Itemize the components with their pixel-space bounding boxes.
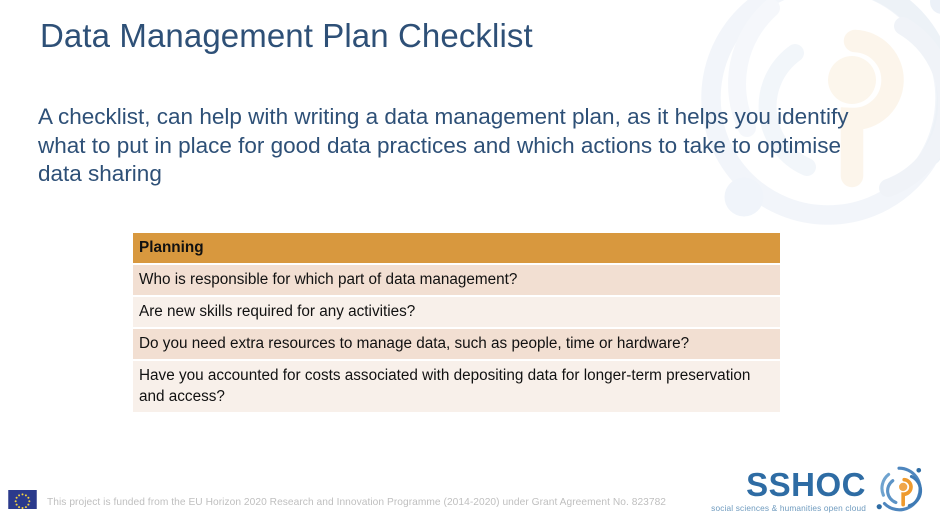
checklist-item: Have you accounted for costs associated … [133, 360, 780, 413]
checklist-item: Do you need extra resources to manage da… [133, 328, 780, 360]
funding-note: This project is funded from the EU Horiz… [47, 497, 666, 508]
table-row: Who is responsible for which part of dat… [133, 264, 780, 296]
slide-canvas: Data Management Plan Checklist A checkli… [0, 0, 940, 523]
table-row: Are new skills required for any activiti… [133, 296, 780, 328]
checklist-section-header: Planning [133, 233, 780, 264]
page-title: Data Management Plan Checklist [40, 17, 533, 55]
table-header-row: Planning [133, 233, 780, 264]
eu-flag-icon [8, 490, 37, 509]
sshoc-circular-mark-icon [866, 463, 932, 515]
sshoc-tagline: social sciences & humanities open cloud [711, 503, 866, 513]
checklist-item: Are new skills required for any activiti… [133, 296, 780, 328]
table-row: Have you accounted for costs associated … [133, 360, 780, 413]
checklist-table: Planning Who is responsible for which pa… [133, 233, 780, 414]
slide-footer: This project is funded from the EU Horiz… [0, 463, 940, 523]
slide-subtitle: A checklist, can help with writing a dat… [38, 103, 850, 189]
checklist-item: Who is responsible for which part of dat… [133, 264, 780, 296]
table-row: Do you need extra resources to manage da… [133, 328, 780, 360]
sshoc-logo: SSHOC social sciences & humanities open … [742, 463, 934, 521]
sshoc-wordmark: SSHOC [746, 468, 866, 501]
